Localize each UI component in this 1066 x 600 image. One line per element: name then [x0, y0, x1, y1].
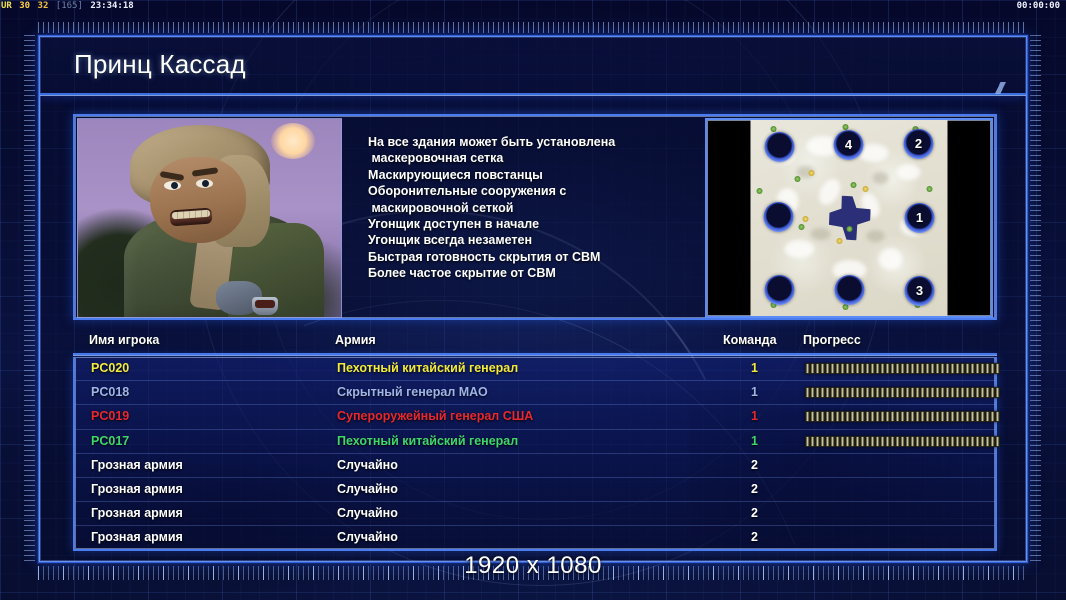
status-value-ping: [165]: [55, 1, 84, 11]
column-header-progress: Прогресс: [803, 333, 861, 347]
description-line: Более частое скрытие от СВМ: [368, 265, 698, 281]
cell-progress-bar: [805, 436, 1000, 447]
resolution-label: 1920 x 1080: [0, 552, 1066, 580]
cell-army[interactable]: Случайно: [337, 458, 398, 472]
table-row[interactable]: Грозная армия Случайно 2: [75, 526, 995, 550]
table-row[interactable]: Грозная армия Случайно 2: [75, 478, 995, 502]
cell-progress-bar: [805, 363, 1000, 374]
portrait-pupil-right: [202, 180, 209, 187]
portrait-sun: [271, 123, 315, 159]
map-start-position[interactable]: [835, 275, 865, 305]
map-start-position[interactable]: [765, 275, 795, 305]
cell-player-name[interactable]: Грозная армия: [91, 530, 183, 544]
cell-player-name[interactable]: PC017: [91, 434, 129, 448]
cell-player-name[interactable]: PC019: [91, 409, 129, 423]
cell-player-name[interactable]: Грозная армия: [91, 506, 183, 520]
portrait-cup-liquid: [255, 300, 275, 308]
ruler-top: [38, 22, 1028, 33]
title-corner-chevron-icon: [978, 82, 1026, 94]
top-status-bar: UR 30 32 [165] 23:34:18: [0, 0, 1066, 13]
map-start-position[interactable]: 2: [904, 129, 934, 159]
game-lobby-screen: UR 30 32 [165] 23:34:18 00:00:00 Принц К…: [0, 0, 1066, 600]
map-start-position[interactable]: [765, 132, 795, 162]
description-line: Маскирующиеся повстанцы: [368, 167, 698, 183]
cell-team[interactable]: 2: [751, 530, 758, 544]
cell-team[interactable]: 1: [751, 385, 758, 399]
column-header-army: Армия: [335, 333, 376, 347]
general-info-panel: На все здания может быть установлена мас…: [73, 114, 997, 320]
column-header-name: Имя игрока: [89, 333, 159, 347]
general-portrait: [77, 118, 342, 318]
description-line: маскировочной сеткой: [368, 200, 698, 216]
status-value-1: 30: [18, 1, 31, 11]
cell-team[interactable]: 2: [751, 458, 758, 472]
map-start-position[interactable]: 3: [905, 276, 935, 306]
title-bar: Принц Кассад: [40, 37, 1026, 95]
description-line: Быстрая готовность скрытия от СВМ: [368, 249, 698, 265]
cell-team[interactable]: 2: [751, 506, 758, 520]
description-line: Угонщик доступен в начале: [368, 216, 698, 232]
table-row[interactable]: PC019 Супероружейный генерал США 1: [75, 405, 995, 429]
cell-player-name[interactable]: Грозная армия: [91, 482, 183, 496]
cell-army[interactable]: Пехотный китайский генерал: [337, 361, 518, 375]
status-tag-ur: UR: [0, 1, 13, 11]
cell-progress-bar: [805, 387, 1000, 398]
map-terrain: 4 2 1 3: [751, 120, 948, 316]
table-row[interactable]: PC018 Скрытный генерал МАО 1: [75, 381, 995, 405]
cell-team[interactable]: 1: [751, 409, 758, 423]
description-line: Оборонительные сооружения с: [368, 183, 698, 199]
page-title: Принц Кассад: [74, 49, 246, 80]
table-row[interactable]: Грозная армия Случайно 2: [75, 502, 995, 526]
table-row[interactable]: PC017 Пехотный китайский генерал 1: [75, 430, 995, 454]
cell-army[interactable]: Случайно: [337, 530, 398, 544]
cell-player-name[interactable]: PC018: [91, 385, 129, 399]
status-value-2: 32: [37, 1, 50, 11]
cell-team[interactable]: 2: [751, 482, 758, 496]
cell-army[interactable]: Случайно: [337, 482, 398, 496]
general-description: На все здания может быть установлена мас…: [368, 134, 698, 282]
cell-army[interactable]: Скрытный генерал МАО: [337, 385, 488, 399]
player-table: Имя игрока Армия Команда Прогресс PC020 …: [73, 333, 997, 551]
cell-army[interactable]: Супероружейный генерал США: [337, 409, 533, 423]
lobby-frame: Принц Кассад: [38, 35, 1028, 563]
table-row[interactable]: PC020 Пехотный китайский генерал 1: [75, 357, 995, 381]
map-start-position[interactable]: 1: [905, 203, 935, 233]
description-line: Угонщик всегда незаметен: [368, 232, 698, 248]
status-clock: 23:34:18: [89, 1, 134, 11]
table-row[interactable]: Грозная армия Случайно 2: [75, 454, 995, 478]
player-table-header: Имя игрока Армия Команда Прогресс: [73, 333, 997, 355]
cell-player-name[interactable]: PC020: [91, 361, 129, 375]
column-header-team: Команда: [723, 333, 777, 347]
map-preview[interactable]: 4 2 1 3: [705, 118, 993, 318]
player-table-body: PC020 Пехотный китайский генерал 1 PC018…: [73, 357, 997, 551]
ruler-right: [1030, 35, 1041, 563]
map-start-position[interactable]: [764, 202, 794, 232]
map-start-position[interactable]: 4: [834, 130, 864, 160]
ruler-left: [24, 35, 35, 563]
description-line: На все здания может быть установлена: [368, 134, 698, 150]
cell-progress-bar: [805, 411, 1000, 422]
cell-army[interactable]: Случайно: [337, 506, 398, 520]
cell-army[interactable]: Пехотный китайский генерал: [337, 434, 518, 448]
cell-team[interactable]: 1: [751, 361, 758, 375]
match-timer: 00:00:00: [1017, 0, 1060, 13]
cell-team[interactable]: 1: [751, 434, 758, 448]
cell-player-name[interactable]: Грозная армия: [91, 458, 183, 472]
portrait-pupil-left: [171, 182, 178, 189]
description-line: маскеровочная сетка: [368, 150, 698, 166]
